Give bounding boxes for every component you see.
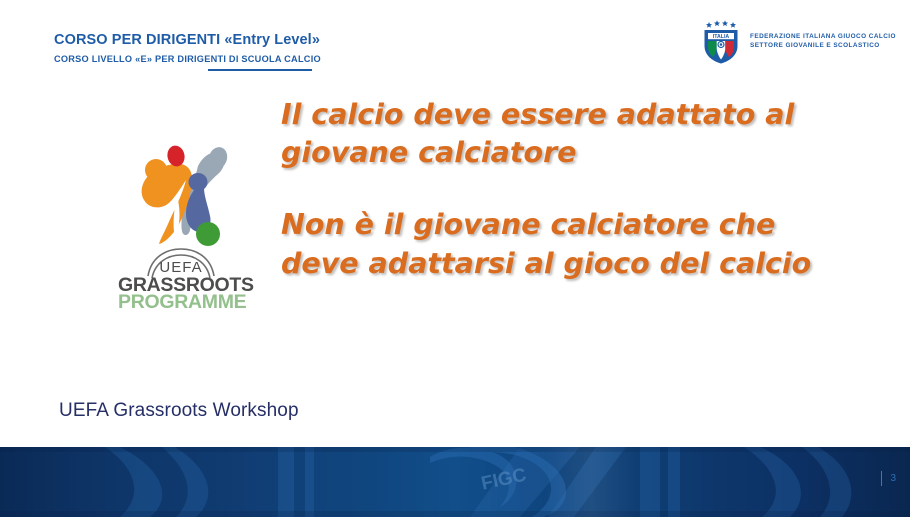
quote-paragraph-1: Il calcio deve essere adattato al giovan… [281, 96, 841, 172]
figc-shield-label: ITALIA [713, 34, 730, 40]
figc-logo: ITALIA FEDERAZIONE ITALIANA GIUOCO CALCI… [700, 19, 896, 64]
figc-sector-line: SETTORE GIOVANILE E SCOLASTICO [750, 42, 896, 51]
workshop-subtitle: UEFA Grassroots Workshop [59, 400, 299, 422]
course-subtitle: CORSO LIVELLO «E» PER DIRIGENTI DI SCUOL… [54, 54, 474, 64]
footer-watermark-graphic: FIGC [0, 447, 910, 517]
quote-paragraph-2: Non è il giovane calciatore che deve ada… [281, 206, 841, 282]
page-number: 3 [890, 473, 896, 484]
uefa-word-programme: PROGRAMME [118, 293, 244, 313]
figc-wordmark: FEDERAZIONE ITALIANA GIUOCO CALCIO SETTO… [750, 33, 896, 50]
main-quote: Il calcio deve essere adattato al giovan… [281, 96, 841, 283]
figc-federation-line: FEDERAZIONE ITALIANA GIUOCO CALCIO [750, 33, 896, 42]
course-header: CORSO PER DIRIGENTI «Entry Level» CORSO … [54, 33, 474, 64]
footer-band: FIGC 3 [0, 447, 910, 517]
page-separator-bar [881, 471, 882, 486]
uefa-players-icon [126, 140, 238, 248]
uefa-grassroots-logo: UEFA GRASSROOTS PROGRAMME [118, 140, 244, 312]
figc-shield-icon: ITALIA [700, 19, 742, 64]
course-title: CORSO PER DIRIGENTI «Entry Level» [54, 33, 474, 49]
slide: CORSO PER DIRIGENTI «Entry Level» CORSO … [0, 0, 910, 517]
footer-page-indicator: 3 [881, 471, 896, 486]
header-underline-rule [208, 69, 312, 71]
